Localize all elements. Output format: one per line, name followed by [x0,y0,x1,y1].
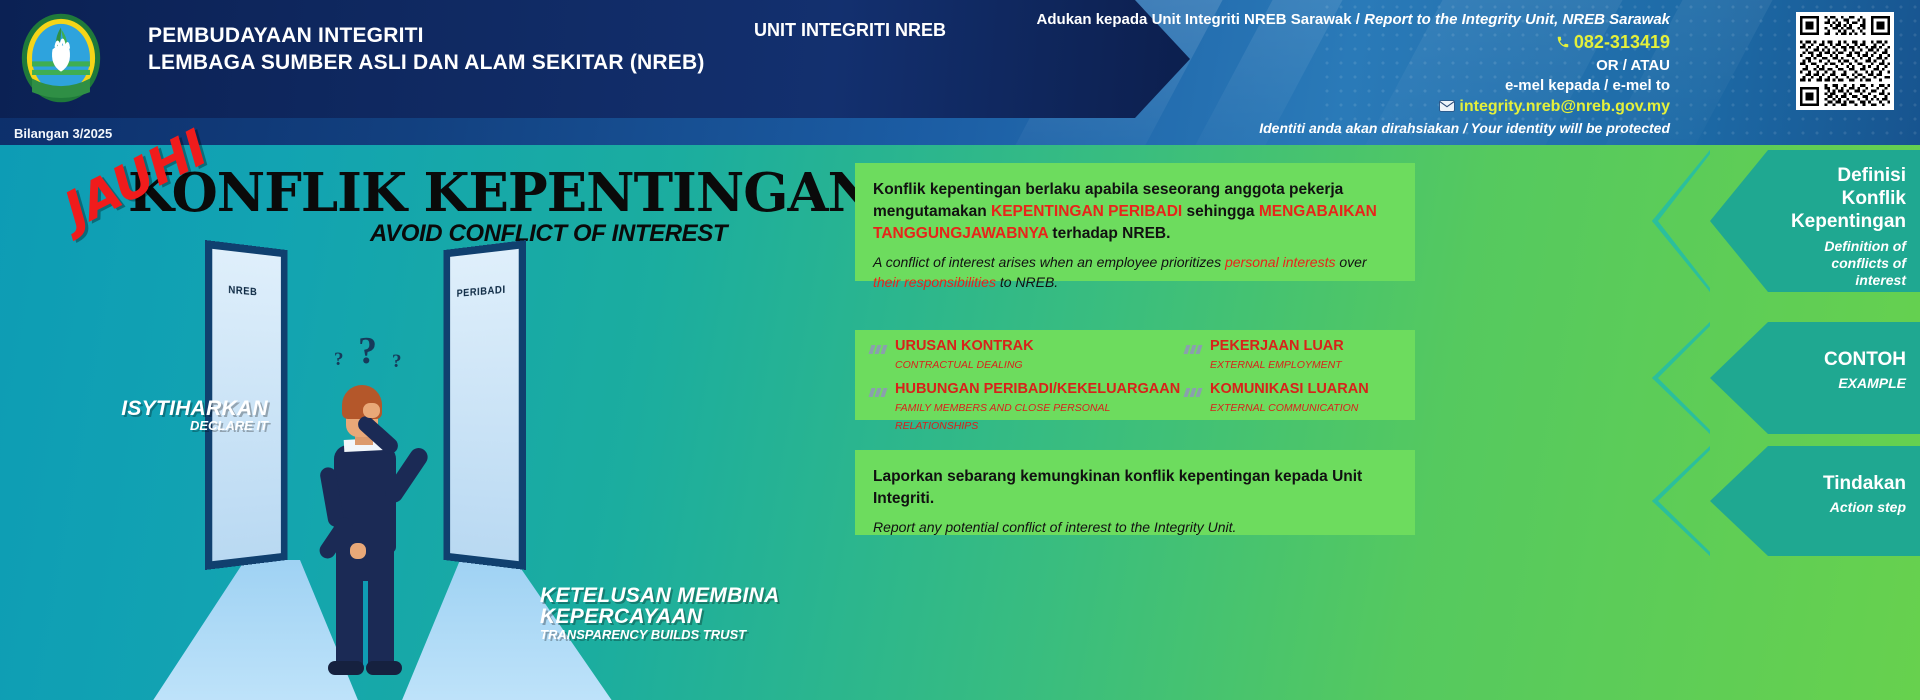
example-3-en: FAMILY MEMBERS AND CLOSE PERSONAL RELATI… [895,402,1110,432]
figure-shoe-right [366,661,402,675]
phone-icon [1556,31,1570,55]
email-label: e-mel kepada / e-mel to [1037,76,1670,96]
report-bm: Adukan kepada Unit Integriti NREB Sarawa… [1037,11,1352,28]
example-4-bm: KOMUNIKASI LUARAN [1210,381,1369,397]
org-line-1: PEMBUDAYAAN INTEGRITI [148,22,705,49]
report-line: Adukan kepada Unit Integriti NREB Sarawa… [1037,10,1670,30]
example-item-contract: URUSAN KONTRAK CONTRACTUAL DEALING [870,337,1185,373]
definition-bm-part3: terhadap NREB. [1048,225,1170,242]
header-org-titles: PEMBUDAYAAN INTEGRITI LEMBAGA SUMBER ASL… [148,22,705,76]
definition-en-red2: their responsibilities [873,274,996,290]
tab-definition-bm-2: Konflik [1780,187,1906,210]
example-3-bm: HUBUNGAN PERIBADI/KEKELUARGAAN [895,381,1180,397]
email-line[interactable]: integrity.nreb@nreb.gov.my [1037,96,1670,119]
definition-card: Konflik kepentingan berlaku apabila sese… [855,163,1415,281]
example-item-external-communication: KOMUNIKASI LUARAN EXTERNAL COMMUNICATION [1185,380,1415,434]
privacy-note: Identiti anda akan dirahsiakan / Your id… [1037,119,1670,138]
example-1-en: CONTRACTUAL DEALING [895,359,1023,371]
callout-transparency: KETELUSAN MEMBINA KEPERCAYAAN TRANSPAREN… [540,585,840,641]
definition-en-part2: over [1336,254,1367,270]
action-card: Laporkan sebarang kemungkinan konflik ke… [855,450,1415,535]
report-en: Report to the Integrity Unit, NREB Saraw… [1364,11,1670,28]
example-1-bm: URUSAN KONTRAK [895,338,1034,354]
tab-example-bm: CONTOH [1780,348,1906,371]
phone-line[interactable]: 082-313419 [1037,30,1670,55]
callout-declare: ISYTIHARKAN DECLARE IT [88,398,268,433]
definition-en-part1: A conflict of interest arises when an em… [873,254,1225,270]
action-text-bm: Laporkan sebarang kemungkinan konflik ke… [873,466,1397,510]
definition-en-red1: personal interests [1225,254,1336,270]
phone-number: 082-313419 [1574,32,1670,52]
tab-definition-en-1: Definition of [1780,238,1906,255]
arrow-bars-icon [870,337,888,359]
page-title: KONFLIK KEPENTINGAN [128,162,875,224]
definition-bm-red1: KEPENTINGAN PERIBADI [991,203,1182,220]
figure-hand-hip [350,543,366,559]
callout-declare-bm: ISYTIHARKAN [88,398,268,419]
definition-text-bm: Konflik kepentingan berlaku apabila sese… [873,179,1397,245]
door-peribadi: PERIBADI [444,240,526,570]
tab-example-en: EXAMPLE [1780,375,1906,392]
door-label-nreb: NREB [228,284,257,298]
figure-leg-split [363,581,368,667]
example-list: URUSAN KONTRAK CONTRACTUAL DEALING PEKER… [870,337,1415,441]
callout-transparency-bm-2: KEPERCAYAAN [540,606,840,627]
callout-transparency-bm-1: KETELUSAN MEMBINA [540,585,840,606]
example-2-bm: PEKERJAAN LUAR [1210,338,1344,354]
qr-code[interactable] [1796,12,1894,110]
callout-transparency-en: TRANSPARENCY BUILDS TRUST [540,628,840,641]
question-mark-small-right: ? [392,351,402,373]
nreb-logo [18,12,104,104]
action-text-en: Report any potential conflict of interes… [873,518,1397,538]
question-mark-small-left: ? [334,349,344,371]
example-item-personal-family: HUBUNGAN PERIBADI/KEKELUARGAAN FAMILY ME… [870,380,1185,434]
example-item-external-employment: PEKERJAAN LUAR EXTERNAL EMPLOYMENT [1185,337,1415,373]
issue-number: Bilangan 3/2025 [14,126,112,141]
page-header: PEMBUDAYAAN INTEGRITI LEMBAGA SUMBER ASL… [0,0,1920,145]
email-address: integrity.nreb@nreb.gov.my [1459,98,1670,115]
envelope-icon [1439,97,1455,119]
tab-definition-bm-1: Definisi [1780,164,1906,187]
figure-shoe-left [328,661,364,675]
tab-definition-en-2: conflicts of [1780,255,1906,272]
arrow-bars-icon [1185,380,1203,402]
definition-text-en: A conflict of interest arises when an em… [873,253,1397,293]
org-line-2: LEMBAGA SUMBER ASLI DAN ALAM SEKITAR (NR… [148,49,705,76]
tab-definition-en-3: interest [1780,272,1906,289]
or-text: OR / ATAU [1037,56,1670,76]
unit-title: UNIT INTEGRITI NREB [700,20,1000,41]
tab-action-bm: Tindakan [1780,472,1906,495]
contact-block: Adukan kepada Unit Integriti NREB Sarawa… [1037,10,1670,138]
definition-en-part3: to NREB. [996,274,1058,290]
report-separator: / [1356,11,1360,28]
example-4-en: EXTERNAL COMMUNICATION [1210,402,1358,414]
example-2-en: EXTERNAL EMPLOYMENT [1210,359,1342,371]
figure-hand-head [363,403,380,418]
tab-action-en: Action step [1780,499,1906,516]
callout-declare-en: DECLARE IT [88,419,268,432]
definition-bm-part2: sehingga [1182,203,1259,220]
arrow-bars-icon [1185,337,1203,359]
confused-man-figure: ? ? ? [300,385,430,700]
infographic-poster: PEMBUDAYAAN INTEGRITI LEMBAGA SUMBER ASL… [0,0,1920,700]
tab-definition-bm-3: Kepentingan [1780,210,1906,233]
question-mark-large: ? [358,329,377,373]
arrow-bars-icon [870,380,888,402]
